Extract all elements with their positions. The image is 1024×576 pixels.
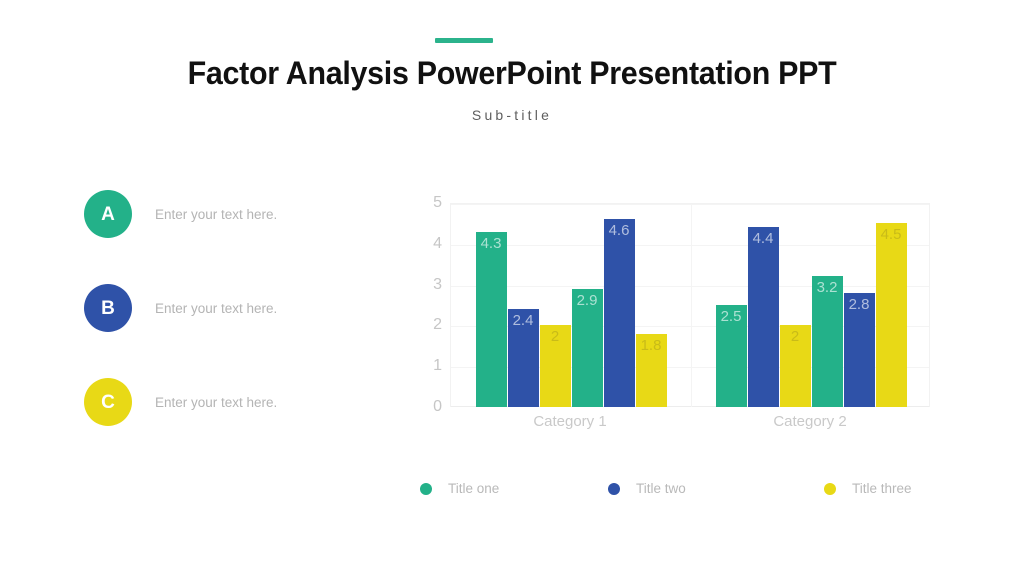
bar-value-label: 4.6	[609, 223, 630, 238]
sidebar: AEnter your text here.BEnter your text h…	[84, 190, 384, 472]
bar[interactable]: 2	[540, 325, 571, 407]
bar[interactable]: 2.5	[716, 305, 747, 407]
sidebar-badge-b: B	[84, 284, 132, 332]
sidebar-badge-c: C	[84, 378, 132, 426]
y-axis-tick: 3	[412, 277, 442, 293]
y-axis-tick: 2	[412, 317, 442, 333]
bar[interactable]: 2	[780, 325, 811, 407]
gridline	[451, 204, 929, 205]
sidebar-item-c[interactable]: CEnter your text here.	[84, 378, 384, 472]
legend-label: Title one	[448, 481, 499, 496]
x-axis-category-label: Category 1	[450, 413, 690, 430]
bar-value-label: 2.9	[577, 293, 598, 308]
sidebar-item-a[interactable]: AEnter your text here.	[84, 190, 384, 284]
sidebar-item-label: Enter your text here.	[155, 301, 277, 316]
bar[interactable]: 2.8	[844, 293, 875, 407]
y-axis-tick: 0	[412, 399, 442, 415]
bar[interactable]: 4.6	[604, 219, 635, 407]
legend-item[interactable]: Title three	[824, 481, 912, 496]
y-axis-tick: 4	[412, 236, 442, 252]
title-accent-bar	[435, 38, 493, 43]
bar[interactable]: 2.4	[508, 309, 539, 407]
y-axis-tick: 5	[412, 195, 442, 211]
group-divider	[691, 204, 692, 407]
bar[interactable]: 2.9	[572, 289, 603, 407]
bar[interactable]: 3.2	[812, 276, 843, 407]
legend-item[interactable]: Title two	[608, 481, 686, 496]
bar[interactable]: 1.8	[636, 334, 667, 407]
legend-label: Title three	[852, 481, 912, 496]
bar-value-label: 2.8	[849, 297, 870, 312]
y-axis: 012345	[412, 185, 442, 407]
page-subtitle: Sub-title	[0, 107, 1024, 123]
legend-color-dot-icon	[608, 483, 620, 495]
x-axis-category-label: Category 2	[690, 413, 930, 430]
bar-value-label: 3.2	[817, 280, 838, 295]
bar-value-label: 2.5	[721, 309, 742, 324]
bar-value-label: 4.4	[753, 231, 774, 246]
legend-color-dot-icon	[420, 483, 432, 495]
gridline	[451, 286, 929, 287]
bar[interactable]: 4.3	[476, 232, 507, 407]
sidebar-badge-a: A	[84, 190, 132, 238]
y-axis-tick: 1	[412, 358, 442, 374]
legend-color-dot-icon	[824, 483, 836, 495]
sidebar-item-b[interactable]: BEnter your text here.	[84, 284, 384, 378]
gridline	[451, 245, 929, 246]
plot-area: 4.32.422.94.61.82.54.423.22.84.5	[450, 203, 930, 407]
bar-value-label: 2	[791, 329, 799, 344]
bar-value-label: 2.4	[513, 313, 534, 328]
bar[interactable]: 4.5	[876, 223, 907, 407]
bar-chart: 012345 4.32.422.94.61.82.54.423.22.84.5 …	[412, 185, 942, 510]
bar-value-label: 2	[551, 329, 559, 344]
legend-label: Title two	[636, 481, 686, 496]
bar-value-label: 1.8	[641, 338, 662, 353]
sidebar-item-label: Enter your text here.	[155, 395, 277, 410]
page-title: Factor Analysis PowerPoint Presentation …	[26, 55, 999, 92]
chart-legend: Title oneTitle twoTitle three	[412, 481, 942, 505]
legend-item[interactable]: Title one	[420, 481, 499, 496]
bar[interactable]: 4.4	[748, 227, 779, 407]
bar-value-label: 4.5	[881, 227, 902, 242]
sidebar-item-label: Enter your text here.	[155, 207, 277, 222]
bar-value-label: 4.3	[481, 236, 502, 251]
